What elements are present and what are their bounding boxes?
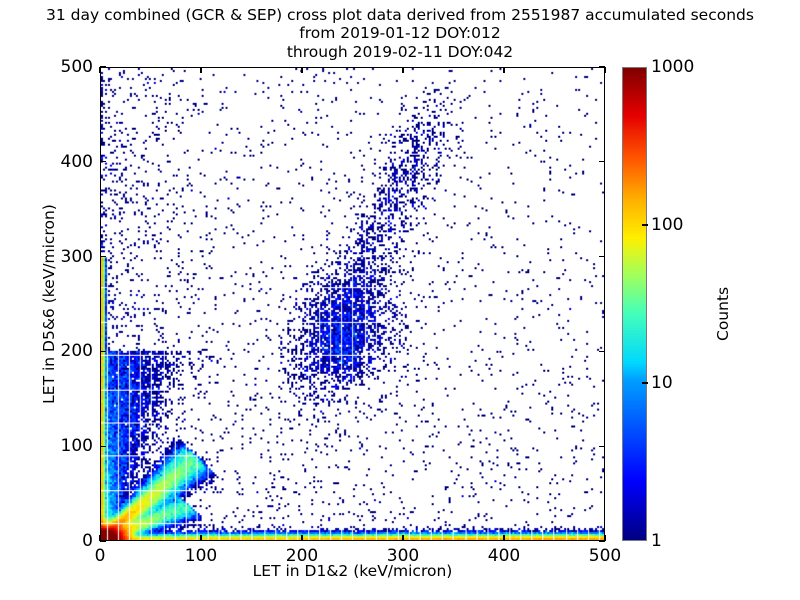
x-axis-label: LET in D1&2 (keV/micron): [100, 562, 605, 580]
y-axis-label: LET in D5&6 (keV/micron): [40, 67, 58, 541]
y-tick-mark: [100, 66, 106, 67]
x-tick-mark-top: [301, 67, 302, 73]
title-line-1: 31 day combined (GCR & SEP) cross plot d…: [0, 6, 800, 24]
colorbar-tick-label: 1: [651, 531, 662, 551]
y-tick-label: 0: [82, 531, 93, 551]
y-tick-label: 100: [61, 436, 93, 456]
colorbar-gradient: [623, 68, 646, 540]
colorbar-tick-mark: [642, 382, 648, 383]
y-tick-label: 500: [61, 57, 93, 77]
x-tick-mark-top: [604, 67, 605, 73]
y-tick-label: 300: [61, 247, 93, 267]
y-tick-mark: [100, 446, 106, 447]
plot-title: 31 day combined (GCR & SEP) cross plot d…: [0, 6, 800, 61]
x-tick-mark: [402, 535, 403, 541]
y-tick-mark-right: [599, 256, 605, 257]
plot-area: [100, 67, 605, 541]
figure-canvas: 31 day combined (GCR & SEP) cross plot d…: [0, 0, 800, 600]
y-tick-mark: [100, 540, 106, 541]
x-tick-mark-top: [99, 67, 100, 73]
x-tick-mark: [301, 535, 302, 541]
x-tick-mark: [200, 535, 201, 541]
y-tick-label: 400: [61, 152, 93, 172]
y-tick-label: 200: [61, 341, 93, 361]
y-tick-mark-right: [599, 540, 605, 541]
title-line-2: from 2019-01-12 DOY:012: [0, 24, 800, 42]
y-tick-mark: [100, 161, 106, 162]
colorbar-tick-label: 10: [651, 373, 673, 393]
x-tick-mark-top: [503, 67, 504, 73]
colorbar-tick-mark: [642, 224, 648, 225]
scatter-density-plot: [101, 68, 604, 540]
colorbar-label: Counts: [714, 287, 732, 341]
x-tick-mark: [503, 535, 504, 541]
x-tick-mark-top: [200, 67, 201, 73]
colorbar-tick-label: 100: [651, 215, 683, 235]
x-tick-mark-top: [402, 67, 403, 73]
colorbar: [622, 67, 647, 541]
y-tick-mark-right: [599, 161, 605, 162]
y-tick-mark-right: [599, 446, 605, 447]
colorbar-tick-label: 1000: [651, 57, 694, 77]
y-tick-mark: [100, 351, 106, 352]
y-tick-mark-right: [599, 351, 605, 352]
y-tick-mark-right: [599, 66, 605, 67]
y-tick-mark: [100, 256, 106, 257]
